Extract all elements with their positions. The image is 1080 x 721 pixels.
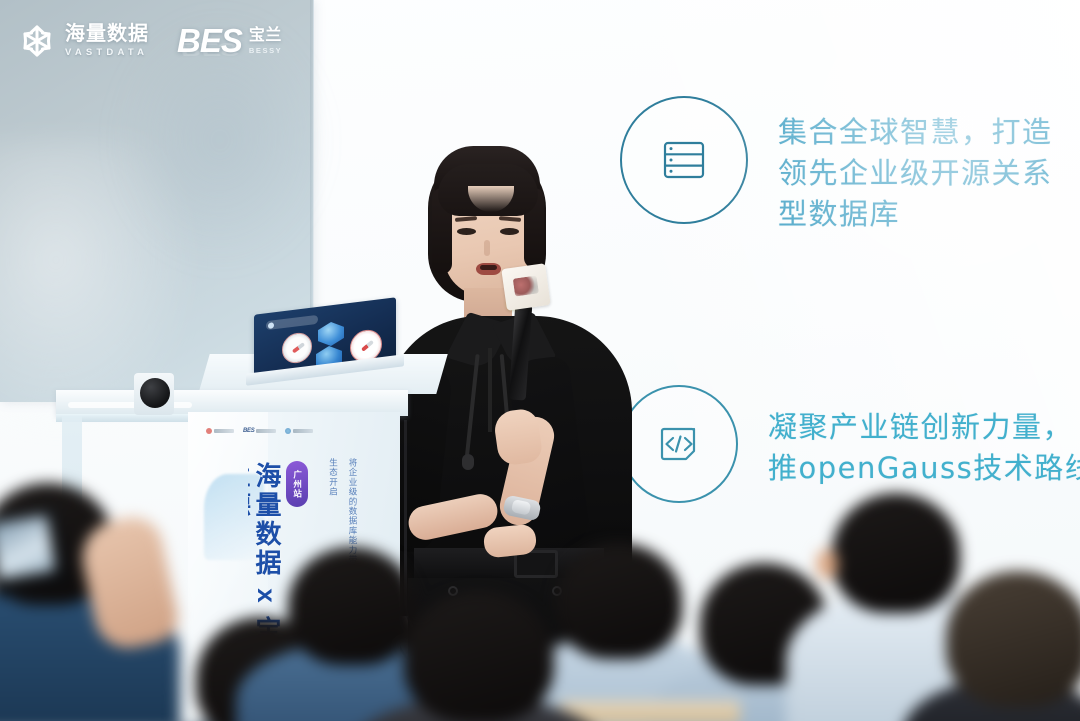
audience-member-ear <box>816 549 838 579</box>
bes-wordmark-reflection: BES <box>179 38 238 59</box>
bullet-1-line-1: 集合全球智慧，打造 <box>778 112 1053 153</box>
database-server-icon <box>620 96 748 224</box>
presenter-mouth <box>476 263 501 275</box>
bes-name-cn: 宝兰 <box>249 28 282 44</box>
audience-member-head <box>404 591 554 721</box>
vastdata-name-cn: 海量数据 <box>65 24 149 44</box>
speaker-puck-icon <box>134 373 174 415</box>
presenter-nose <box>484 240 490 256</box>
mic-logo-cube <box>501 263 550 311</box>
audience-member-head <box>556 543 682 659</box>
presentation-photo: 海量数据 VASTDATA BES BES 宝兰 BESSY <box>0 0 1080 721</box>
audience-member-head <box>832 493 960 613</box>
presenter-eye-right <box>500 228 519 235</box>
audience-member-head <box>288 547 416 665</box>
bes-logo: BES BES 宝兰 BESSY <box>177 25 282 56</box>
bes-subtext: 宝兰 BESSY <box>249 28 282 57</box>
laptop <box>246 306 396 378</box>
vastdata-name-en: VASTDATA <box>65 48 149 58</box>
snowflake-icon <box>18 22 56 60</box>
smartphone-recording-icon <box>0 505 70 596</box>
audience-foreground <box>0 421 1080 721</box>
bes-name-en: BESSY <box>249 47 282 55</box>
slide-bullet-1: 集合全球智慧，打造 领先企业级开源关系 型数据库 <box>620 96 1053 236</box>
bullet-1-line-2: 领先企业级开源关系 <box>778 153 1053 194</box>
audience-member-head <box>946 571 1080 707</box>
bullet-1-line-3: 型数据库 <box>778 194 1053 235</box>
vastdata-wordmark: 海量数据 VASTDATA <box>65 24 149 58</box>
brand-logo-bar: 海量数据 VASTDATA BES BES 宝兰 BESSY <box>18 22 282 60</box>
vastdata-logo: 海量数据 VASTDATA <box>18 22 149 60</box>
slide-bullet-1-text: 集合全球智慧，打造 领先企业级开源关系 型数据库 <box>778 96 1053 236</box>
presenter-hair-fringe <box>438 164 538 216</box>
presenter-eye-left <box>457 228 476 235</box>
mic-flag-logo-mark <box>513 275 539 296</box>
table-edge <box>560 701 740 721</box>
presenter-placket <box>488 348 492 432</box>
